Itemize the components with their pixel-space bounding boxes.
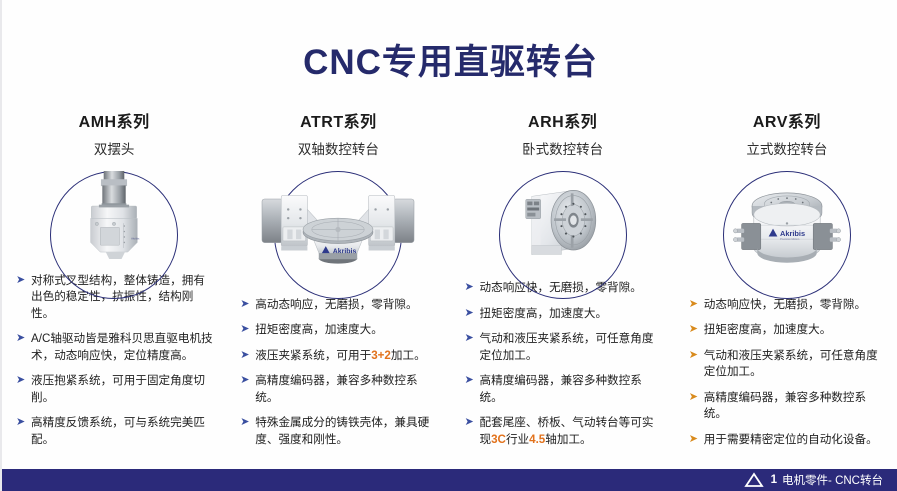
feature-text: 高精度编码器，兼容多种数控系统。 bbox=[480, 373, 665, 406]
feature-text: A/C轴驱动皆是雅科贝思直驱电机技术，动态响应快，定位精度高。 bbox=[31, 331, 216, 364]
arrow-bullet-icon: ➤ bbox=[689, 348, 704, 364]
feature-list-amh: ➤ 对称式叉型结构，整体铸造，拥有出色的稳定性，抗振性，结构刚性。 ➤ A/C轴… bbox=[2, 273, 226, 457]
list-item: ➤ 高精度编码器，兼容多种数控系统。 bbox=[465, 373, 665, 406]
list-item: ➤ 配套尾座、桥板、气动转台等可实现3C行业4.5轴加工。 bbox=[465, 415, 665, 448]
list-item: ➤ 液压抱紧系统，可用于固定角度切削。 bbox=[16, 373, 216, 406]
amh-dual-swivel-head-image: Akribis bbox=[50, 171, 178, 259]
list-item: ➤ 特殊金属成分的铸铁壳体，兼具硬度、强度和刚性。 bbox=[240, 415, 440, 448]
feature-list-atrt: ➤ 高动态响应，无磨损，零背隙。 ➤ 扭矩密度高，加速度大。 ➤ 液压夹紧系统，… bbox=[226, 297, 450, 457]
slide-footer: 1 电机零件- CNC转台 bbox=[2, 469, 897, 491]
arv-product-illustration: Akribis Precision Motion bbox=[723, 171, 851, 283]
series-title-arv: ARV系列 bbox=[753, 112, 821, 134]
svg-text:Precision Motion: Precision Motion bbox=[780, 237, 800, 241]
akribis-triangle-logo-icon bbox=[744, 472, 764, 488]
arrow-bullet-icon: ➤ bbox=[16, 331, 31, 347]
list-item: ➤ 气动和液压夹紧系统，可任意角度定位加工。 bbox=[689, 348, 889, 381]
feature-text: 扭矩密度高，加速度大。 bbox=[480, 306, 665, 322]
atrt-product-illustration: Akribis Precision Motion bbox=[245, 171, 431, 283]
arrow-bullet-icon: ➤ bbox=[465, 415, 480, 431]
arh-horizontal-rotary-table-image bbox=[499, 171, 627, 266]
svg-text:Akribis: Akribis bbox=[131, 237, 140, 241]
list-item: ➤ 扭矩密度高，加速度大。 bbox=[465, 306, 665, 322]
feature-text: 液压夹紧系统，可用于3+2加工。 bbox=[255, 348, 440, 364]
feature-text: 气动和液压夹紧系统，可任意角度定位加工。 bbox=[480, 331, 665, 364]
feature-text: 扭矩密度高，加速度大。 bbox=[704, 322, 889, 338]
arrow-bullet-icon: ➤ bbox=[689, 432, 704, 448]
list-item: ➤ 动态响应快，无磨损，零背隙。 bbox=[689, 297, 889, 313]
feature-text: 配套尾座、桥板、气动转台等可实现3C行业4.5轴加工。 bbox=[480, 415, 665, 448]
series-title-amh: AMH系列 bbox=[79, 112, 150, 134]
arrow-bullet-icon: ➤ bbox=[240, 322, 255, 338]
svg-text:Akribis: Akribis bbox=[780, 229, 805, 238]
highlight-value: 3+2 bbox=[371, 349, 391, 362]
feature-text: 用于需要精密定位的自动化设备。 bbox=[704, 432, 889, 448]
arrow-bullet-icon: ➤ bbox=[465, 280, 480, 296]
feature-list-arv: ➤ 动态响应快，无磨损，零背隙。 ➤ 扭矩密度高，加速度大。 ➤ 气动和液压夹紧… bbox=[675, 297, 897, 457]
highlight-value: 3C bbox=[491, 433, 506, 446]
feature-text: 高动态响应，无磨损，零背隙。 bbox=[255, 297, 440, 313]
feature-text: 高精度反馈系统，可与系统完美匹配。 bbox=[31, 415, 216, 448]
arrow-bullet-icon: ➤ bbox=[240, 348, 255, 364]
series-subtitle-arh: 卧式数控转台 bbox=[522, 141, 603, 159]
list-item: ➤ 气动和液压夹紧系统，可任意角度定位加工。 bbox=[465, 331, 665, 364]
list-item: ➤ 扭矩密度高，加速度大。 bbox=[689, 322, 889, 338]
list-item: ➤ 高精度编码器，兼容多种数控系统。 bbox=[240, 373, 440, 406]
feature-text: 动态响应快，无磨损，零背隙。 bbox=[704, 297, 889, 313]
product-column-arv[interactable]: ARV系列 立式数控转台 bbox=[675, 112, 897, 457]
product-column-atrt[interactable]: ATRT系列 双轴数控转台 bbox=[226, 112, 450, 457]
list-item: ➤ 用于需要精密定位的自动化设备。 bbox=[689, 432, 889, 448]
arh-product-illustration bbox=[499, 171, 627, 266]
arrow-bullet-icon: ➤ bbox=[465, 306, 480, 322]
list-item: ➤ 高精度反馈系统，可与系统完美匹配。 bbox=[16, 415, 216, 448]
arrow-bullet-icon: ➤ bbox=[465, 373, 480, 389]
series-subtitle-amh: 双摆头 bbox=[94, 141, 135, 159]
list-item: ➤ 高精度编码器，兼容多种数控系统。 bbox=[689, 390, 889, 423]
list-item: ➤ A/C轴驱动皆是雅科贝思直驱电机技术，动态响应快，定位精度高。 bbox=[16, 331, 216, 364]
product-columns: AMH系列 双摆头 bbox=[2, 112, 897, 457]
arv-vertical-rotary-table-image: Akribis Precision Motion bbox=[723, 171, 851, 283]
footer-text: 电机零件- CNC转台 bbox=[782, 472, 883, 488]
feature-text: 高精度编码器，兼容多种数控系统。 bbox=[255, 373, 440, 406]
arrow-bullet-icon: ➤ bbox=[240, 297, 255, 313]
feature-text: 液压抱紧系统，可用于固定角度切削。 bbox=[31, 373, 216, 406]
amh-product-illustration: Akribis bbox=[50, 171, 178, 259]
arrow-bullet-icon: ➤ bbox=[689, 390, 704, 406]
feature-text: 气动和液压夹紧系统，可任意角度定位加工。 bbox=[704, 348, 889, 381]
arrow-bullet-icon: ➤ bbox=[16, 373, 31, 389]
feature-text: 扭矩密度高，加速度大。 bbox=[255, 322, 440, 338]
series-title-arh: ARH系列 bbox=[528, 112, 597, 134]
page-number: 1 bbox=[771, 474, 777, 486]
arrow-bullet-icon: ➤ bbox=[689, 322, 704, 338]
arrow-bullet-icon: ➤ bbox=[16, 415, 31, 431]
feature-list-arh: ➤ 动态响应快，无磨损，零背隙。 ➤ 扭矩密度高，加速度大。 ➤ 气动和液压夹紧… bbox=[451, 280, 675, 457]
arrow-bullet-icon: ➤ bbox=[16, 273, 31, 289]
slide-canvas: CNC专用直驱转台 AMH系列 双摆头 bbox=[0, 0, 897, 491]
highlight-value: 4.5 bbox=[529, 433, 545, 446]
feature-text: 高精度编码器，兼容多种数控系统。 bbox=[704, 390, 889, 423]
list-item: ➤ 液压夹紧系统，可用于3+2加工。 bbox=[240, 348, 440, 364]
series-subtitle-atrt: 双轴数控转台 bbox=[298, 141, 379, 159]
arrow-bullet-icon: ➤ bbox=[240, 415, 255, 431]
product-column-amh[interactable]: AMH系列 双摆头 bbox=[2, 112, 226, 457]
arrow-bullet-icon: ➤ bbox=[240, 373, 255, 389]
page-title: CNC专用直驱转台 bbox=[2, 34, 897, 85]
arrow-bullet-icon: ➤ bbox=[689, 297, 704, 313]
list-item: ➤ 扭矩密度高，加速度大。 bbox=[240, 322, 440, 338]
list-item: ➤ 高动态响应，无磨损，零背隙。 bbox=[240, 297, 440, 313]
series-title-atrt: ATRT系列 bbox=[300, 112, 376, 134]
arrow-bullet-icon: ➤ bbox=[465, 331, 480, 347]
product-column-arh[interactable]: ARH系列 卧式数控转台 bbox=[451, 112, 675, 457]
feature-text: 特殊金属成分的铸铁壳体，兼具硬度、强度和刚性。 bbox=[255, 415, 440, 448]
series-subtitle-arv: 立式数控转台 bbox=[746, 141, 827, 159]
atrt-dual-axis-rotary-table-image: Akribis Precision Motion bbox=[245, 171, 431, 283]
